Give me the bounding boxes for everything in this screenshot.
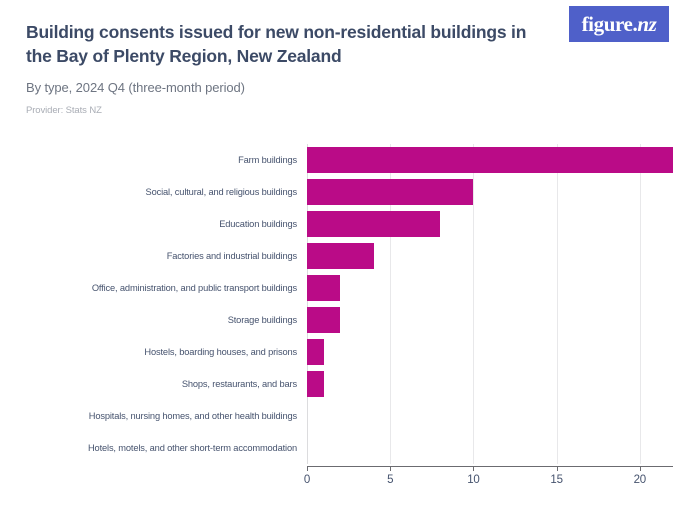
- x-axis-tick: [473, 466, 474, 471]
- logo-text-main: figure.: [582, 12, 638, 36]
- figure-nz-chart-page: Building consents issued for new non-res…: [0, 0, 700, 525]
- x-axis-line: [307, 466, 673, 467]
- bar[interactable]: [307, 307, 340, 333]
- chart-row: Hotels, motels, and other short-term acc…: [0, 432, 700, 464]
- bar-rows: Farm buildingsSocial, cultural, and reli…: [0, 144, 700, 464]
- bar-track: [307, 176, 673, 208]
- x-axis-tick-label: 0: [304, 474, 310, 486]
- bar-track: [307, 272, 673, 304]
- category-label: Shops, restaurants, and bars: [182, 368, 297, 400]
- category-label: Education buildings: [219, 208, 297, 240]
- logo-text: figure.nz: [582, 12, 657, 37]
- bar-track: [307, 336, 673, 368]
- bar[interactable]: [307, 243, 374, 269]
- bar[interactable]: [307, 275, 340, 301]
- page-title: Building consents issued for new non-res…: [26, 20, 546, 68]
- x-axis-tick: [557, 466, 558, 471]
- category-label: Hostels, boarding houses, and prisons: [144, 336, 297, 368]
- category-label: Farm buildings: [238, 144, 297, 176]
- bar[interactable]: [307, 371, 324, 397]
- chart-row: Shops, restaurants, and bars: [0, 368, 700, 400]
- x-axis-tick-label: 10: [467, 474, 479, 486]
- x-axis-tick: [390, 466, 391, 471]
- category-label: Storage buildings: [228, 304, 297, 336]
- category-label: Social, cultural, and religious building…: [146, 176, 297, 208]
- bar-track: [307, 432, 673, 464]
- bar-track: [307, 240, 673, 272]
- chart-row: Hospitals, nursing homes, and other heal…: [0, 400, 700, 432]
- logo-text-accent: nz: [637, 12, 656, 36]
- bar[interactable]: [307, 339, 324, 365]
- category-label: Hospitals, nursing homes, and other heal…: [89, 400, 297, 432]
- category-label: Factories and industrial buildings: [167, 240, 297, 272]
- chart-row: Social, cultural, and religious building…: [0, 176, 700, 208]
- x-axis-tick-label: 5: [387, 474, 393, 486]
- bar-track: [307, 400, 673, 432]
- chart-row: Office, administration, and public trans…: [0, 272, 700, 304]
- x-axis-tick: [307, 466, 308, 471]
- chart-row: Hostels, boarding houses, and prisons: [0, 336, 700, 368]
- x-axis-tick: [640, 466, 641, 471]
- bar-track: [307, 368, 673, 400]
- category-label: Office, administration, and public trans…: [92, 272, 297, 304]
- provider-label: Provider: Stats NZ: [26, 104, 102, 117]
- bar[interactable]: [307, 179, 473, 205]
- bar-track: [307, 304, 673, 336]
- x-axis-tick-label: 15: [550, 474, 562, 486]
- bar-track: [307, 144, 673, 176]
- chart-header: Building consents issued for new non-res…: [0, 0, 700, 130]
- bar[interactable]: [307, 211, 440, 237]
- chart-row: Factories and industrial buildings: [0, 240, 700, 272]
- figure-nz-logo[interactable]: figure.nz: [569, 6, 669, 42]
- chart-row: Farm buildings: [0, 144, 700, 176]
- bar-chart: Farm buildingsSocial, cultural, and reli…: [0, 130, 700, 525]
- bar-track: [307, 208, 673, 240]
- bar[interactable]: [307, 147, 673, 173]
- x-axis-tick-label: 20: [634, 474, 646, 486]
- plot-area: Farm buildingsSocial, cultural, and reli…: [0, 130, 700, 525]
- chart-subtitle: By type, 2024 Q4 (three-month period): [26, 79, 245, 97]
- category-label: Hotels, motels, and other short-term acc…: [88, 432, 297, 464]
- chart-row: Storage buildings: [0, 304, 700, 336]
- chart-row: Education buildings: [0, 208, 700, 240]
